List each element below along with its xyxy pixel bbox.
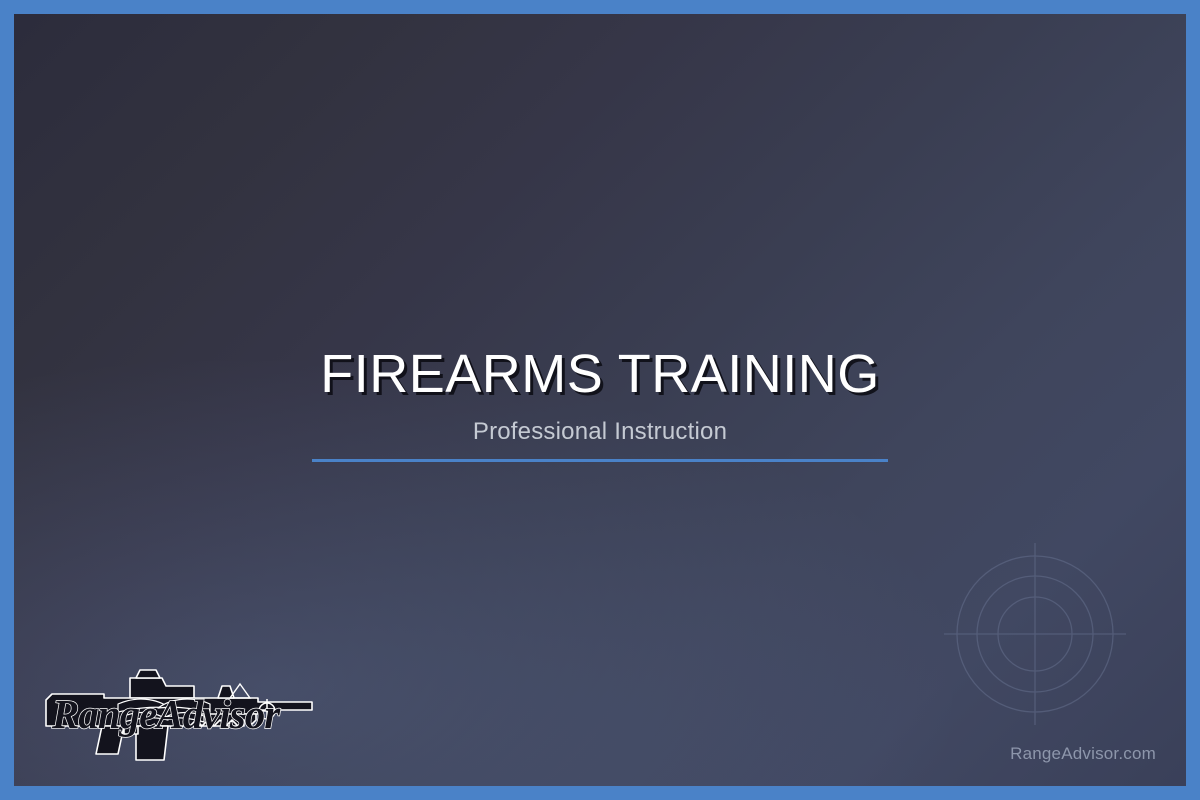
brand-logo[interactable]: RangeAdvisor xyxy=(44,664,319,764)
presentation-slide: FIREARMS TRAINING Professional Instructi… xyxy=(0,0,1200,800)
title-block: FIREARMS TRAINING Professional Instructi… xyxy=(14,344,1186,462)
page-subtitle: Professional Instruction xyxy=(14,418,1186,446)
page-title: FIREARMS TRAINING xyxy=(14,344,1186,404)
crosshair-target-icon xyxy=(935,534,1135,734)
rifle-silhouette-icon xyxy=(44,664,319,764)
accent-divider xyxy=(312,459,888,462)
footer-url: RangeAdvisor.com xyxy=(1010,744,1156,764)
